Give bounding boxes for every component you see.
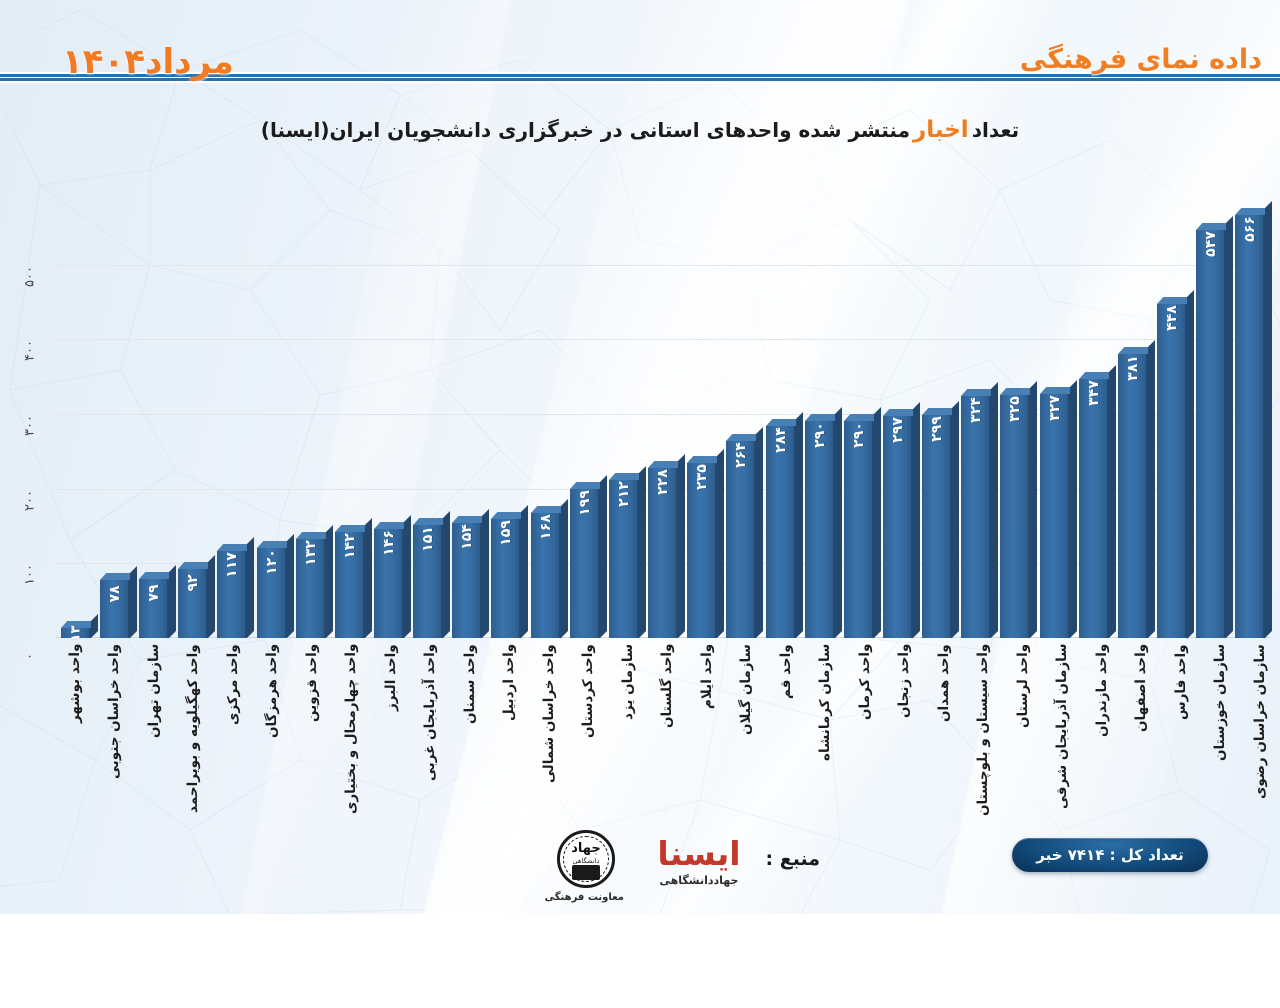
chart-bar[interactable]: ۱۴۲ — [335, 532, 365, 638]
chart-category-cell: واحد قم — [767, 644, 806, 834]
chart-category-cell: سازمان یزد — [609, 644, 648, 834]
chart-bar-slot: ۵۶۶ — [1231, 190, 1270, 638]
chart-bar[interactable]: ۱۶۸ — [531, 513, 561, 638]
chart-bar-slot: ۱۵۴ — [448, 190, 487, 638]
chart-bar-slot: ۱۳ — [56, 190, 95, 638]
chart-category-label: واحد اصفهان — [1135, 644, 1149, 834]
chart-bar-value-label: ۱۱۷ — [224, 552, 240, 578]
chart-category-label: واحد همدان — [938, 644, 952, 834]
chart-bar[interactable]: ۱۹۹ — [570, 489, 600, 638]
chart-category-cell: واحد چهارمحال و بختیاری — [332, 644, 371, 834]
chart-category-cell: واحد سمنان — [451, 644, 490, 834]
chart-category-cell: واحد قزوین — [293, 644, 332, 834]
chart-bar[interactable]: ۲۹۹ — [922, 415, 952, 638]
chart-bar-slot: ۳۸۱ — [1113, 190, 1152, 638]
seal-caption: معاونت فرهنگی — [548, 892, 624, 903]
chart-category-cell: واحد همدان — [925, 644, 964, 834]
chart-category-cell: سازمان خراسان رضوی — [1241, 644, 1280, 834]
chart-bar-slot: ۳۴۷ — [1074, 190, 1113, 638]
chart-bar-value-label: ۱۵۴ — [459, 524, 475, 550]
chart-bar-value-label: ۳۲۷ — [1047, 395, 1063, 421]
chart-x-axis-labels: سازمان خراسان رضویسازمان خوزستانواحد فار… — [56, 644, 1280, 834]
chart-bar[interactable]: ۷۸ — [100, 580, 130, 638]
chart-category-cell: سازمان خوزستان — [1201, 644, 1240, 834]
chart-category-label: واحد کهگیلویه و بویراحمد — [187, 644, 201, 834]
chart-category-label: واحد مازندران — [1096, 644, 1110, 834]
chart-y-tick-label: ۵۰۰ — [23, 243, 38, 287]
chart-bar[interactable]: ۴۴۸ — [1157, 304, 1187, 639]
chart-category-label: واحد مرکزی — [227, 644, 241, 834]
chart-category-cell: واحد اصفهان — [1122, 644, 1161, 834]
chart-bar-slot: ۲۱۲ — [604, 190, 643, 638]
source-attribution: منبع : ایسنا جهاددانشگاهی جهاد دانشگاهی … — [520, 826, 820, 910]
chart-bar-value-label: ۱۵۱ — [420, 526, 436, 552]
chart-bar-slot: ۱۶۸ — [526, 190, 565, 638]
chart-category-cell: واحد هرمزگان — [253, 644, 292, 834]
chart-bar[interactable]: ۲۳۵ — [687, 463, 717, 638]
chart-bar-slot: ۱۵۱ — [409, 190, 448, 638]
chart-bar-slot: ۱۵۹ — [487, 190, 526, 638]
isna-logo: ایسنا جهاددانشگاهی — [634, 838, 764, 887]
chart-bar-value-label: ۷۸ — [107, 585, 123, 602]
chart-category-cell: واحد آذربایجان غربی — [411, 644, 450, 834]
chart-bar-value-label: ۱۶۸ — [538, 514, 554, 540]
brand-title-right: داده نمای فرهنگی — [1020, 44, 1262, 75]
chart-bar[interactable]: ۱۳۲ — [296, 539, 326, 638]
seal-bottom-bar — [572, 865, 600, 880]
page-title: تعداداخبارمنتشر شده واحدهای استانی در خب… — [0, 117, 1280, 143]
chart-bar-value-label: ۱۴۲ — [342, 533, 358, 559]
chart-bar-value-label: ۲۸۴ — [773, 427, 789, 453]
chart-bar[interactable]: ۱۳ — [61, 628, 91, 638]
source-label: منبع : — [766, 848, 820, 870]
chart-bar[interactable]: ۳۲۴ — [961, 396, 991, 638]
chart-bar-value-label: ۱۲۰ — [264, 550, 280, 576]
chart-category-cell: سازمان گیلان — [727, 644, 766, 834]
chart-bar-value-label: ۵۶۶ — [1242, 217, 1258, 243]
chart-category-cell: واحد البرز — [372, 644, 411, 834]
chart-category-cell: واحد بوشهر — [56, 644, 95, 834]
chart-bar[interactable]: ۱۲۰ — [257, 548, 287, 638]
chart-bars-container: ۵۶۶۵۴۷۴۴۸۳۸۱۳۴۷۳۲۷۳۲۵۳۲۴۲۹۹۲۹۷۲۹۰۲۹۰۲۸۴۲… — [56, 190, 1270, 638]
chart-category-label: سازمان یزد — [622, 644, 636, 834]
chart-bar[interactable]: ۵۶۶ — [1235, 215, 1265, 638]
chart-bar-value-label: ۳۴۷ — [1086, 380, 1102, 406]
chart-bar-slot: ۲۹۷ — [878, 190, 917, 638]
chart-bar[interactable]: ۲۲۸ — [648, 468, 678, 638]
chart-bar-value-label: ۲۳۵ — [694, 464, 710, 490]
chart-category-label: سازمان خوزستان — [1214, 644, 1228, 834]
chart-bar-value-label: ۲۹۰ — [812, 423, 828, 449]
chart-bar-value-label: ۷۹ — [146, 584, 162, 601]
chart-bar-slot: ۱۹۹ — [565, 190, 604, 638]
chart-bar[interactable]: ۲۱۲ — [609, 480, 639, 638]
chart-category-cell: واحد لرستان — [1004, 644, 1043, 834]
chart-bar[interactable]: ۲۸۴ — [766, 426, 796, 638]
chart-bar[interactable]: ۳۴۷ — [1079, 379, 1109, 638]
chart-category-label: واحد گلستان — [661, 644, 675, 834]
chart-category-label: واحد بوشهر — [69, 644, 83, 834]
chart-bar[interactable]: ۲۹۰ — [844, 421, 874, 638]
page-title-part-2: منتشر شده واحدهای استانی در خبرگزاری دان… — [261, 118, 910, 142]
chart-bar-value-label: ۱۴۶ — [381, 530, 397, 556]
chart-bar[interactable]: ۱۱۷ — [217, 551, 247, 638]
chart-category-cell: واحد گلستان — [648, 644, 687, 834]
chart-bar-slot: ۳۲۴ — [957, 190, 996, 638]
chart-bar-value-label: ۲۶۴ — [733, 442, 749, 468]
chart-bar-value-label: ۳۲۴ — [968, 397, 984, 423]
chart-category-label: واحد قم — [780, 644, 794, 834]
chart-bar[interactable]: ۲۹۰ — [805, 421, 835, 638]
chart-y-tick-label: ۰ — [23, 616, 38, 660]
chart-category-cell: واحد زنجان — [885, 644, 924, 834]
chart-category-label: واحد زنجان — [898, 644, 912, 834]
chart-bar-slot: ۳۲۷ — [1035, 190, 1074, 638]
chart-bar-slot: ۵۴۷ — [1192, 190, 1231, 638]
chart-category-label: واحد آذربایجان غربی — [424, 644, 438, 834]
chart-category-cell: واحد خراسان جنوبی — [95, 644, 134, 834]
chart-bar[interactable]: ۱۴۶ — [374, 529, 404, 638]
chart-category-cell: سازمان آذربایجان شرقی — [1043, 644, 1082, 834]
chart-category-label: واحد سمنان — [464, 644, 478, 834]
chart-category-cell: سازمان تهران — [135, 644, 174, 834]
chart-category-label: سازمان کرمانشاه — [819, 644, 833, 834]
chart-y-tick-label: ۳۰۰ — [23, 392, 38, 436]
isna-logo-wordmark: ایسنا — [634, 838, 764, 869]
chart-category-cell: واحد سیستان و بلوچستان — [964, 644, 1003, 834]
chart-bar-slot: ۴۴۸ — [1153, 190, 1192, 638]
chart-bar-slot: ۲۶۴ — [722, 190, 761, 638]
page-title-highlight: اخبار — [913, 117, 969, 143]
issue-date-title: مرداد۱۴۰۴ — [62, 42, 234, 82]
chart-bar-slot: ۳۲۵ — [996, 190, 1035, 638]
chart-y-tick-label: ۱۰۰ — [23, 541, 38, 585]
chart-bar[interactable]: ۱۵۱ — [413, 525, 443, 638]
chart-bar-slot: ۲۳۵ — [683, 190, 722, 638]
chart-category-label: واحد چهارمحال و بختیاری — [345, 644, 359, 834]
page-title-part-1: تعداد — [972, 118, 1019, 142]
seal-top-text: جهاد — [560, 842, 612, 855]
chart-category-label: سازمان خراسان رضوی — [1254, 644, 1268, 834]
chart-y-tick-label: ۲۰۰ — [23, 467, 38, 511]
chart-bar[interactable]: ۲۶۴ — [726, 441, 756, 638]
chart-bar-slot: ۱۴۲ — [330, 190, 369, 638]
chart-plot-area: ۵۰۰۴۰۰۳۰۰۲۰۰۱۰۰۰ ۵۶۶۵۴۷۴۴۸۳۸۱۳۴۷۳۲۷۳۲۵۳۲… — [44, 190, 1270, 638]
chart-category-label: واحد خراسان شمالی — [543, 644, 557, 834]
jahad-daneshgahi-seal: جهاد دانشگاهی معاونت فرهنگی — [548, 830, 624, 903]
chart-category-cell: واحد مرکزی — [214, 644, 253, 834]
chart-bar-slot: ۷۸ — [95, 190, 134, 638]
chart-bar-value-label: ۲۲۸ — [655, 469, 671, 495]
chart-bar-slot: ۷۹ — [134, 190, 173, 638]
isna-logo-subtitle: جهاددانشگاهی — [634, 874, 764, 887]
chart-category-label: واحد لرستان — [1017, 644, 1031, 834]
chart-bar-slot: ۲۹۰ — [839, 190, 878, 638]
chart-bar[interactable]: ۷۹ — [139, 579, 169, 638]
chart-category-label: واحد قزوین — [306, 644, 320, 834]
seal-mid-text: دانشگاهی — [560, 857, 612, 865]
chart-bar-value-label: ۲۹۹ — [929, 416, 945, 442]
chart-bar[interactable]: ۳۲۵ — [1000, 395, 1030, 638]
chart-category-cell: واحد اردبیل — [490, 644, 529, 834]
chart-category-cell: واحد کهگیلویه و بویراحمد — [174, 644, 213, 834]
chart-category-label: واحد سیستان و بلوچستان — [977, 644, 991, 834]
chart-bar-slot: ۲۲۸ — [644, 190, 683, 638]
chart-bar-value-label: ۱۵۹ — [498, 520, 514, 546]
chart-bar-slot: ۱۱۷ — [213, 190, 252, 638]
chart-category-cell: واحد فارس — [1162, 644, 1201, 834]
chart-bar-slot: ۱۲۰ — [252, 190, 291, 638]
chart-category-cell: واحد مازندران — [1083, 644, 1122, 834]
chart-bar-slot: ۱۴۶ — [369, 190, 408, 638]
chart-bar-slot: ۲۹۰ — [800, 190, 839, 638]
chart-bar-value-label: ۵۴۷ — [1203, 231, 1219, 257]
seal-emblem-icon: جهاد دانشگاهی — [557, 830, 615, 888]
chart-bar[interactable]: ۵۴۷ — [1196, 230, 1226, 638]
chart-bar-value-label: ۱۹۹ — [577, 491, 593, 517]
chart-bar-slot: ۱۳۲ — [291, 190, 330, 638]
chart-category-label: واحد کرمان — [859, 644, 873, 834]
chart-bar[interactable]: ۳۲۷ — [1040, 394, 1070, 638]
chart-category-label: سازمان گیلان — [740, 644, 754, 834]
chart-bar-value-label: ۹۲ — [185, 575, 201, 592]
chart-category-label: واحد اردبیل — [503, 644, 517, 834]
chart-bar-value-label: ۱۳۲ — [303, 541, 319, 567]
chart-bar[interactable]: ۱۵۴ — [452, 523, 482, 638]
chart-category-cell: سازمان کرمانشاه — [806, 644, 845, 834]
chart-category-label: واحد خراسان جنوبی — [108, 644, 122, 834]
chart-bar-value-label: ۲۹۷ — [890, 417, 906, 443]
chart-category-cell: واحد کرمان — [846, 644, 885, 834]
chart-bar-value-label: ۲۱۲ — [616, 481, 632, 507]
chart-category-label: واحد فارس — [1175, 644, 1189, 834]
chart-bar-value-label: ۳۲۵ — [1007, 397, 1023, 423]
chart-category-cell: واحد کردستان — [569, 644, 608, 834]
chart-bar-slot: ۲۹۹ — [918, 190, 957, 638]
chart-bar[interactable]: ۳۸۱ — [1118, 354, 1148, 638]
chart-bar-value-label: ۳۸۱ — [1125, 355, 1141, 381]
chart-bar-slot: ۹۲ — [174, 190, 213, 638]
chart-category-label: واحد البرز — [385, 644, 399, 834]
chart-bar-value-label: ۱۳ — [68, 626, 83, 642]
chart-category-cell: واحد ایلام — [688, 644, 727, 834]
chart-category-cell: واحد خراسان شمالی — [530, 644, 569, 834]
chart-bar-slot: ۲۸۴ — [761, 190, 800, 638]
chart-bar[interactable]: ۱۵۹ — [491, 519, 521, 638]
chart-bar-value-label: ۲۹۰ — [851, 423, 867, 449]
chart-bar-value-label: ۴۴۸ — [1164, 305, 1180, 331]
chart-y-tick-label: ۴۰۰ — [23, 317, 38, 361]
chart-category-label: سازمان آذربایجان شرقی — [1056, 644, 1070, 834]
chart-category-label: سازمان تهران — [148, 644, 162, 834]
chart-category-label: واحد کردستان — [582, 644, 596, 834]
chart-category-label: واحد ایلام — [701, 644, 715, 834]
chart-category-label: واحد هرمزگان — [266, 644, 280, 834]
chart-bar[interactable]: ۲۹۷ — [883, 416, 913, 638]
chart-bar[interactable]: ۹۲ — [178, 569, 208, 638]
total-count-badge: تعداد کل : ۷۴۱۴ خبر — [1012, 838, 1208, 872]
